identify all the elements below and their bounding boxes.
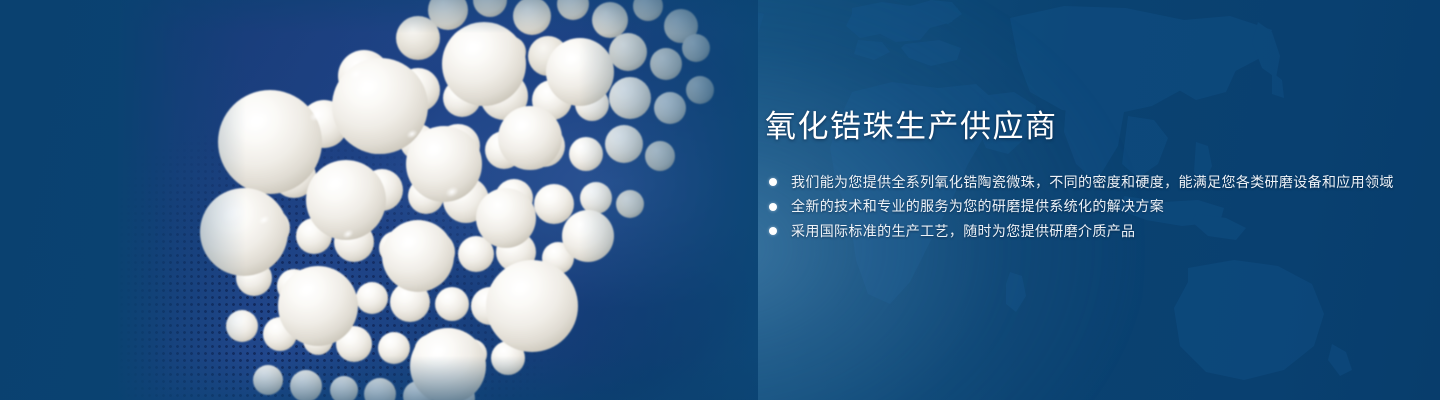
feature-text: 采用国际标准的生产工艺，随时为您提供研磨介质产品 (791, 223, 1135, 239)
feature-text: 我们能为您提供全系列氧化锆陶瓷微珠，不同的密度和硬度，能满足您各类研磨设备和应用… (791, 174, 1394, 190)
feature-list-item: 全新的技术和专业的服务为您的研磨提供系统化的解决方案 (765, 194, 1405, 219)
bullet-dot-icon (769, 178, 777, 186)
bullet-dot-icon (769, 227, 777, 235)
feature-text: 全新的技术和专业的服务为您的研磨提供系统化的解决方案 (791, 198, 1164, 214)
bullet-dot-icon (769, 203, 777, 211)
feature-list-item: 采用国际标准的生产工艺，随时为您提供研磨介质产品 (765, 219, 1405, 244)
photo-vertical-fade (118, 0, 758, 400)
feature-list-item: 我们能为您提供全系列氧化锆陶瓷微珠，不同的密度和硬度，能满足您各类研磨设备和应用… (765, 170, 1405, 195)
hero-banner: 氧化锆珠生产供应商 我们能为您提供全系列氧化锆陶瓷微珠，不同的密度和硬度，能满足… (0, 0, 1440, 400)
banner-copy: 氧化锆珠生产供应商 我们能为您提供全系列氧化锆陶瓷微珠，不同的密度和硬度，能满足… (765, 108, 1405, 243)
feature-list: 我们能为您提供全系列氧化锆陶瓷微珠，不同的密度和硬度，能满足您各类研磨设备和应用… (765, 170, 1405, 244)
product-photo (118, 0, 758, 400)
banner-headline: 氧化锆珠生产供应商 (765, 108, 1405, 146)
